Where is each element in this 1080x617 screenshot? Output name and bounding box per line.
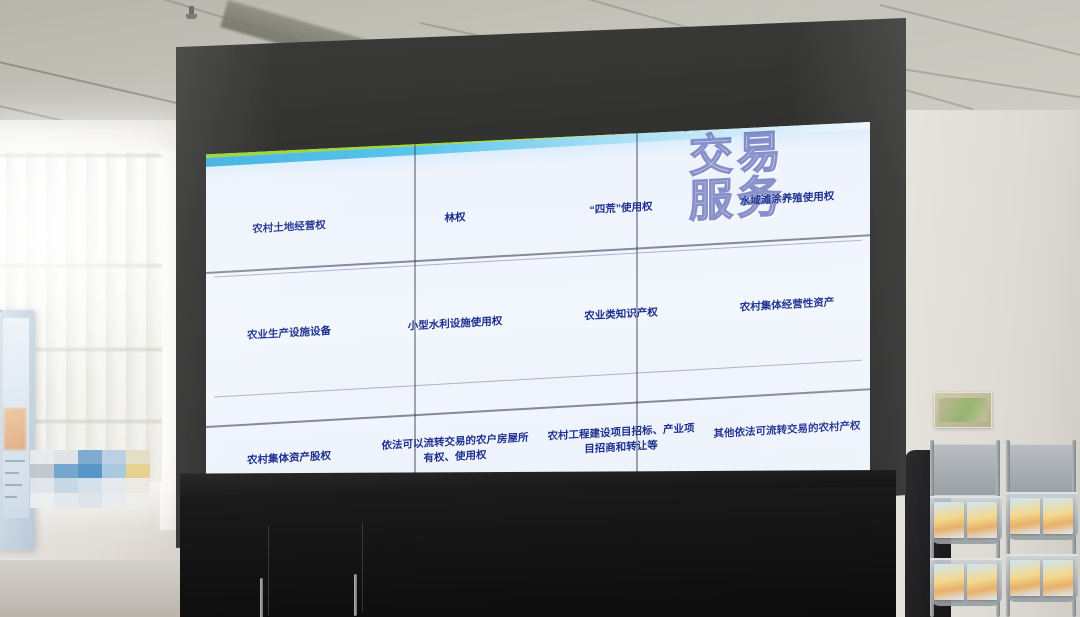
table-cell[interactable]: 小型水利设施使用权 bbox=[372, 264, 538, 385]
wall-plaque bbox=[934, 392, 992, 428]
panel-seam bbox=[636, 122, 638, 512]
panel-seam bbox=[414, 122, 416, 512]
brochure-rack bbox=[930, 440, 1080, 617]
table-cell[interactable]: 水域滩涂养殖使用权 bbox=[704, 151, 870, 248]
table-cell[interactable]: 农业类知识产权 bbox=[538, 255, 704, 376]
censored-region bbox=[30, 450, 150, 508]
table-cell[interactable]: 农村集体经营性资产 bbox=[704, 245, 870, 366]
table-cell[interactable]: “四荒”使用权 bbox=[538, 161, 704, 258]
cabinet-handle[interactable] bbox=[260, 578, 263, 617]
video-wall-unit: 二、平台基本功能 山东农村产权交易中心滕州市服务中心 Shandong Rura… bbox=[176, 18, 906, 617]
table-cell[interactable]: 农业生产设施设备 bbox=[206, 274, 372, 395]
room-scene: 二、平台基本功能 山东农村产权交易中心滕州市服务中心 Shandong Rura… bbox=[0, 0, 1080, 617]
standing-info-poster bbox=[0, 310, 35, 550]
services-table: 农村土地经营权 林权 “四荒”使用权 水域滩涂养殖使用权 农业生产设施设备 小型… bbox=[206, 145, 870, 512]
video-wall-screen[interactable]: 二、平台基本功能 山东农村产权交易中心滕州市服务中心 Shandong Rura… bbox=[206, 122, 870, 512]
table-cell[interactable]: 林权 bbox=[372, 170, 538, 267]
cabinet-handle[interactable] bbox=[354, 574, 357, 616]
table-cell[interactable]: 农村土地经营权 bbox=[206, 180, 372, 277]
